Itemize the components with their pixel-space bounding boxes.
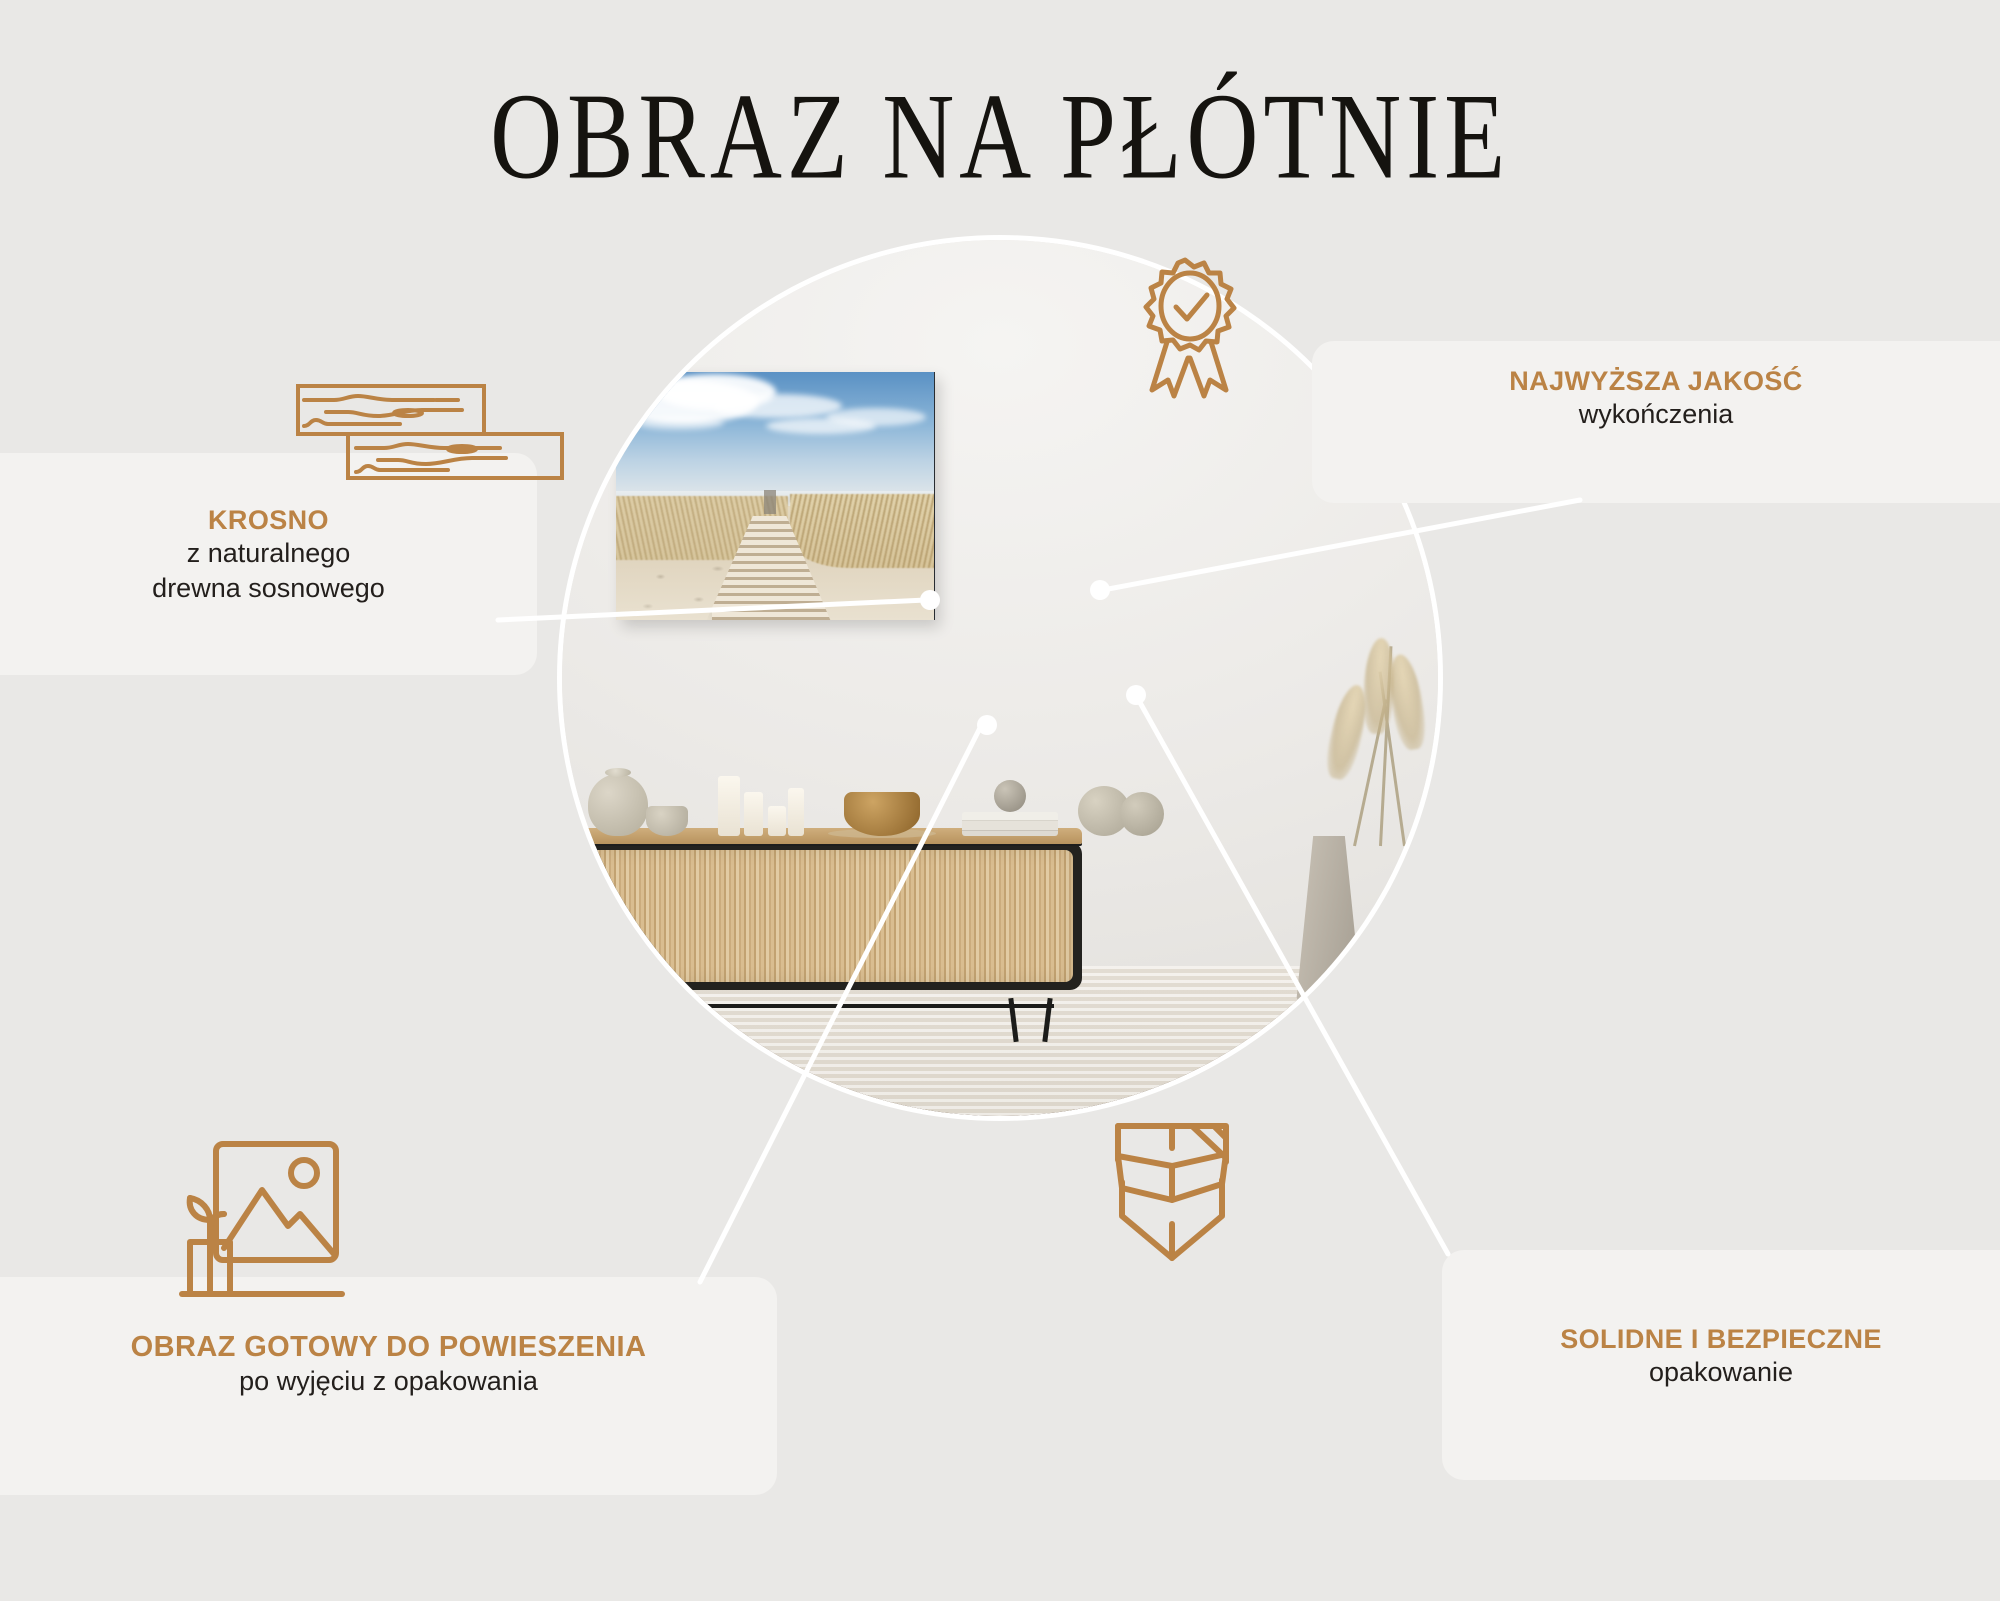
feature-title-gotowy: OBRAZ GOTOWY DO POWIESZENIA	[0, 1331, 777, 1364]
canvas-artwork	[616, 372, 934, 620]
room-background	[562, 240, 1438, 1116]
ceramic-pot	[1120, 792, 1164, 836]
sideboard-legs	[562, 998, 1082, 1042]
sideboard-fluted-doors	[562, 850, 1073, 982]
stacked-books	[962, 812, 1058, 836]
artwork-cloud	[634, 416, 724, 430]
artwork-cloud	[712, 394, 842, 418]
sideboard-decor	[562, 756, 1082, 836]
pillar-candle	[788, 788, 804, 836]
feature-subtitle-jakosc-line1: wykończenia	[1312, 397, 2000, 432]
room-scene-circle	[562, 240, 1438, 1116]
artwork-dune-grass-right	[790, 494, 934, 568]
ceramic-vase	[588, 774, 648, 836]
open-cardboard-box-icon	[1096, 1118, 1248, 1276]
floor-vase	[1296, 836, 1362, 1004]
feature-subtitle-krosno-line2: drewna sosnowego	[0, 571, 537, 606]
pillar-candle	[768, 806, 786, 836]
feature-subtitle-gotowy-line1: po wyjęciu z opakowania	[0, 1364, 777, 1399]
feature-panel-krosno: KROSNO z naturalnego drewna sosnowego	[0, 453, 537, 675]
feature-title-krosno: KROSNO	[0, 505, 537, 536]
leg-crossbar	[580, 1004, 1054, 1008]
page-title: OBRAZ NA PŁÓTNIE	[40, 76, 1960, 199]
framed-picture-plant-icon	[152, 1136, 392, 1326]
stone-sphere	[994, 780, 1026, 812]
pampas-plume	[1385, 652, 1430, 752]
pampas-grass	[1268, 616, 1438, 846]
feature-subtitle-opakowanie-line1: opakowanie	[1442, 1355, 2000, 1390]
feature-panel-opakowanie: SOLIDNE I BEZPIECZNE opakowanie	[1442, 1250, 2000, 1480]
quality-badge-icon	[1122, 254, 1248, 414]
feature-title-jakosc: NAJWYŻSZA JAKOŚĆ	[1312, 366, 2000, 397]
title-container: OBRAZ NA PŁÓTNIE	[0, 76, 2000, 180]
pampas-plume	[1322, 682, 1373, 782]
feature-panel-jakosc: NAJWYŻSZA JAKOŚĆ wykończenia	[1312, 341, 2000, 503]
feature-title-opakowanie: SOLIDNE I BEZPIECZNE	[1442, 1324, 2000, 1355]
pillar-candle	[718, 776, 740, 836]
sideboard-furniture	[562, 828, 1082, 1008]
pillar-candle	[744, 792, 763, 836]
brass-bowl	[844, 792, 920, 836]
artwork-cloud	[826, 408, 926, 426]
ceramic-bowl	[646, 806, 688, 836]
artwork-fence-post	[764, 490, 776, 514]
wood-planks-icon	[296, 382, 564, 482]
feature-subtitle-krosno-line1: z naturalnego	[0, 536, 537, 571]
